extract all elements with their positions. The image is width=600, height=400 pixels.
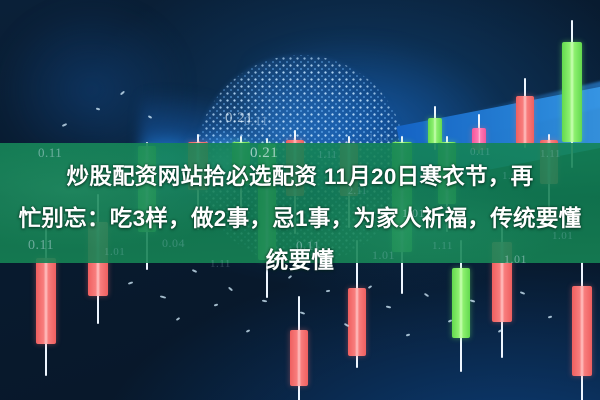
- banner-image: 0.210.111.11 0.110.211.110.111.011.010.0…: [0, 0, 600, 400]
- headline-text: 炒股配资网站拾必选配资 11月20日寒衣节，再 忙别忘：吃3样，做2事，忌1事，…: [0, 156, 600, 282]
- headline-line-1: 炒股配资网站拾必选配资 11月20日寒衣节，再: [0, 156, 600, 198]
- headline-line-2: 忙别忘：吃3样，做2事，忌1事，为家人祈福，传统要懂: [0, 198, 600, 240]
- headline-line-3: 统要懂: [0, 240, 600, 282]
